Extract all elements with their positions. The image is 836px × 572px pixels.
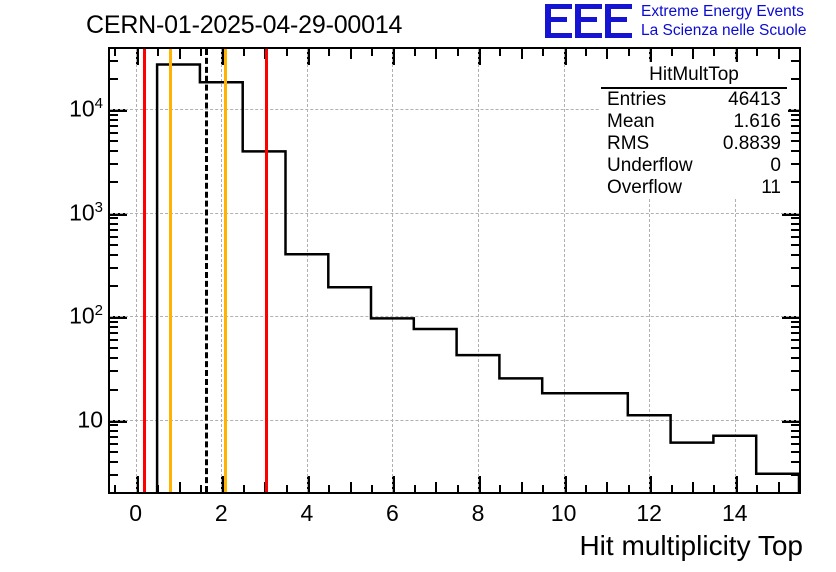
stats-row-name: Underflow [607,155,693,177]
y-tick-label: 102 [69,304,103,329]
marker-line-red-line-high [265,49,268,492]
page-title: CERN-01-2025-04-29-00014 [86,11,402,39]
stats-row-value: 0 [770,155,781,177]
marker-line-black-dashed-mean [205,49,208,492]
x-tick-label: 2 [215,501,228,526]
x-tick-label: 0 [129,501,142,526]
stats-row-value: 0.8839 [723,133,781,155]
x-tick-label: 12 [636,501,662,526]
stats-row-name: Overflow [607,177,682,199]
stats-row-name: Mean [607,111,655,133]
stats-row-value: 46413 [728,89,781,111]
x-tick-label: 14 [722,501,748,526]
x-tick-label: 10 [551,501,577,526]
stats-row: RMS0.8839 [601,133,787,155]
stats-row: Overflow11 [601,177,787,199]
stats-row: Mean1.616 [601,111,787,133]
eee-logo: Extreme Energy Events La Scienza nelle S… [545,2,833,42]
root-canvas: CERN-01-2025-04-29-00014 Extreme Energy … [0,0,836,572]
x-tick-label: 4 [300,501,313,526]
stats-row-name: Entries [607,89,666,111]
eee-logo-line2: La Scienza nelle Scuole [641,21,833,40]
eee-mark-icon [545,3,635,39]
stats-row-value: 11 [761,177,781,199]
stats-row: Underflow0 [601,155,787,177]
marker-line-orange-line-high [224,49,227,492]
x-axis-title: Hit multiplicity Top [579,530,803,562]
marker-line-orange-line-low [169,49,172,492]
x-tick-label: 6 [386,501,399,526]
eee-logo-line1: Extreme Energy Events [641,2,833,21]
stats-rows: Entries46413Mean1.616RMS0.8839Underflow0… [601,89,787,199]
y-tick-label: 10 [77,407,103,432]
marker-line-red-line-low [143,49,146,492]
stats-row: Entries46413 [601,89,787,111]
stats-row-name: RMS [607,133,649,155]
y-tick-label: 104 [69,97,103,122]
y-tick-label: 103 [69,200,103,225]
stats-box: HitMultTop Entries46413Mean1.616RMS0.883… [600,62,788,199]
stats-row-value: 1.616 [733,111,781,133]
eee-logo-text: Extreme Energy Events La Scienza nelle S… [641,2,833,40]
stats-title: HitMultTop [601,63,787,89]
x-tick-label: 8 [472,501,485,526]
